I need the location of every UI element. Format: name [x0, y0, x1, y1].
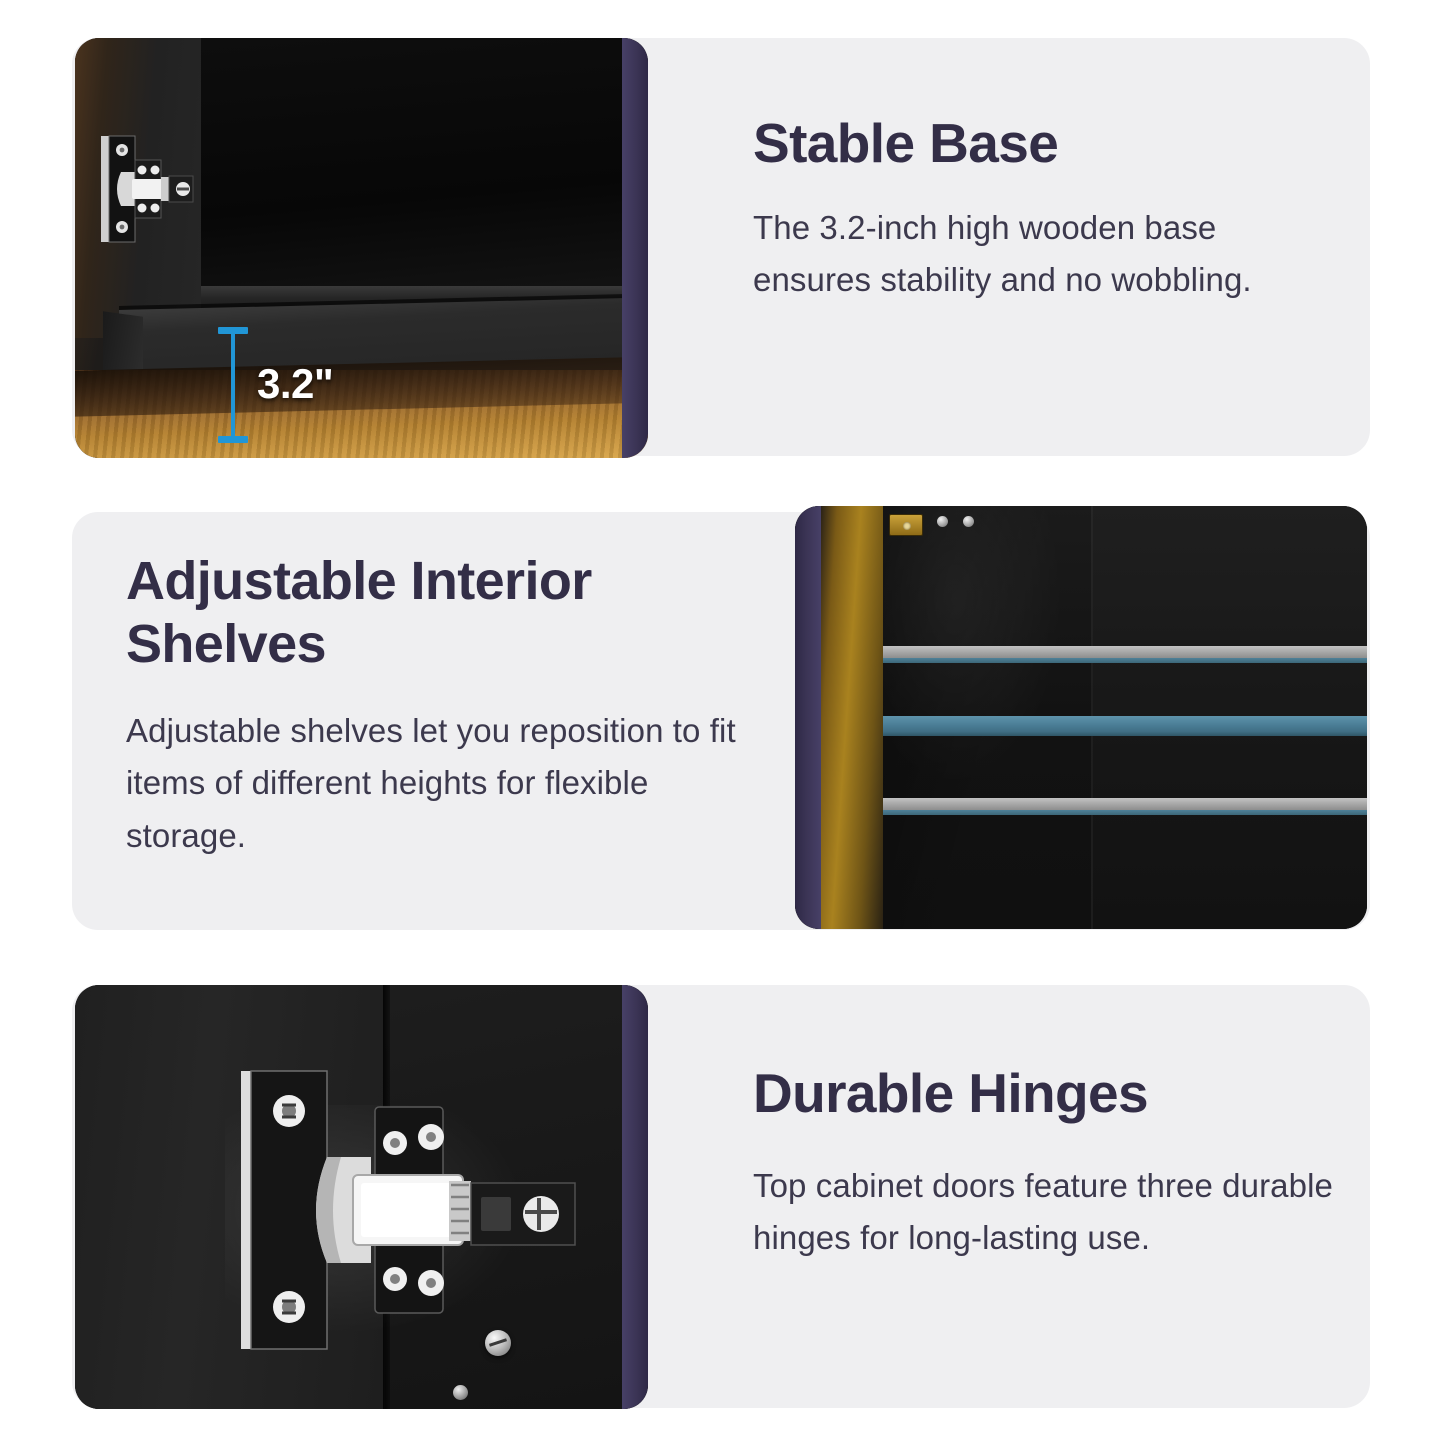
cabinet-cavity	[193, 38, 622, 300]
shelf-bottom	[883, 798, 1367, 815]
bracket-screw-icon	[903, 522, 911, 530]
screw-icon	[963, 516, 974, 527]
feature-image-adjustable-shelves	[795, 506, 1367, 929]
shelf-middle-highlighted	[883, 716, 1367, 736]
feature-description: The 3.2-inch high wooden base ensures st…	[753, 202, 1343, 306]
feature-text-stable-base: Stable Base The 3.2-inch high wooden bas…	[753, 112, 1343, 306]
shelf-edge	[883, 658, 1367, 663]
image-edge-accent	[795, 506, 821, 929]
feature-image-stable-base: 3.2"	[75, 38, 648, 458]
shelf-edge	[883, 732, 1367, 736]
base-height-label: 3.2"	[257, 360, 333, 408]
feature-image-durable-hinges	[75, 985, 648, 1409]
image-edge-accent	[622, 985, 648, 1409]
shelf-surface	[883, 798, 1367, 810]
feature-heading: Adjustable Interior Shelves	[126, 550, 746, 675]
mounting-screws-icon	[935, 512, 981, 534]
feature-description: Adjustable shelves let you reposition to…	[126, 705, 746, 861]
feature-description: Top cabinet doors feature three durable …	[753, 1160, 1333, 1264]
feature-infographic: 3.2" Stable Base The 3.2-inch high woode…	[0, 0, 1445, 1445]
shelf-bracket-icon	[889, 514, 923, 536]
shelf-surface	[883, 716, 1367, 732]
cabinet-door-inner-face	[821, 506, 883, 929]
screw-icon	[937, 516, 948, 527]
shelf-surface	[883, 646, 1367, 658]
panel-screw-icon	[453, 1385, 468, 1400]
cabinet-hinge-icon	[235, 1065, 648, 1355]
feature-text-durable-hinges: Durable Hinges Top cabinet doors feature…	[753, 1062, 1333, 1264]
panel-screw-icon	[485, 1330, 511, 1356]
shelf-edge	[883, 810, 1367, 815]
shelf-top	[883, 646, 1367, 663]
image-edge-accent	[622, 38, 648, 458]
base-height-dimension-line	[231, 330, 235, 440]
feature-text-adjustable-shelves: Adjustable Interior Shelves Adjustable s…	[126, 550, 746, 862]
cabinet-hinge-icon	[99, 134, 219, 244]
feature-heading: Stable Base	[753, 112, 1343, 176]
feature-heading: Durable Hinges	[753, 1062, 1333, 1126]
